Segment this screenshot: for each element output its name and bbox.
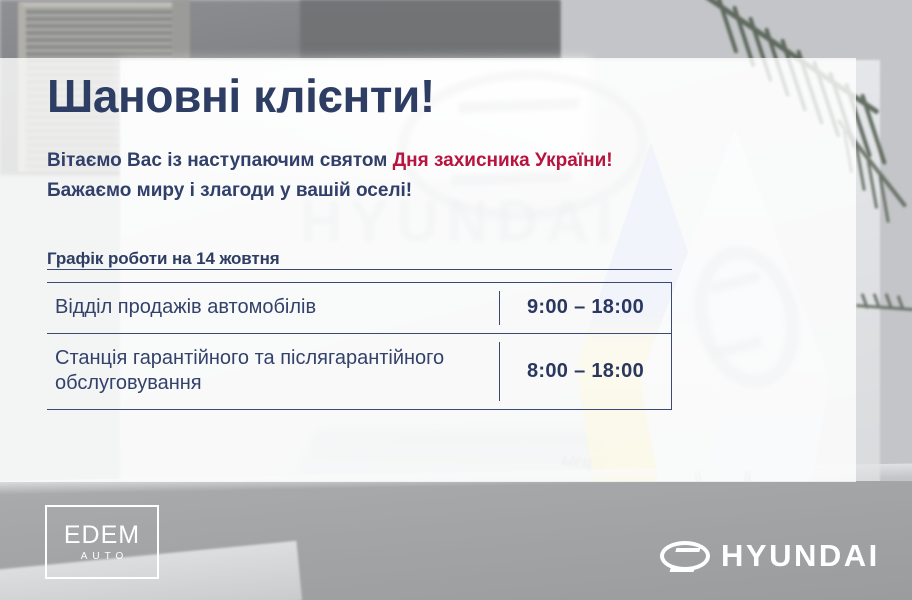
schedule-title: Графік роботи на 14 жовтня [47, 249, 747, 269]
edem-logo-main: EDEM [64, 523, 140, 548]
hyundai-wordmark: HYUNDAI [721, 540, 880, 571]
poster-canvas: HYUNDAI [0, 0, 912, 600]
greeting-block: Вітаємо Вас із наступаючим святом Дня за… [47, 146, 747, 205]
table-cell-department: Відділ продажів автомобілів [47, 283, 499, 333]
schedule-top-rule [47, 269, 672, 270]
schedule-table: Відділ продажів автомобілів 9:00 – 18:00… [47, 282, 672, 410]
edem-logo-sub: AUTO [76, 552, 129, 562]
hyundai-h-oval-icon [660, 541, 710, 571]
greeting-line-2: Бажаємо миру і злагоди у вашій оселі! [47, 176, 747, 205]
hyundai-logo: HYUNDAI [660, 540, 880, 571]
table-row: Станція гарантійного та післягарантійног… [47, 334, 671, 409]
greeting-line-1: Вітаємо Вас із наступаючим святом Дня за… [47, 146, 747, 175]
page-title: Шановні клієнти! [47, 72, 747, 120]
edem-auto-logo: EDEM AUTO [45, 505, 159, 579]
table-cell-hours: 8:00 – 18:00 [500, 334, 671, 409]
table-row: Відділ продажів автомобілів 9:00 – 18:00 [47, 283, 671, 334]
greeting-line-1-prefix: Вітаємо Вас із наступаючим святом [47, 150, 393, 171]
table-cell-hours: 9:00 – 18:00 [500, 283, 671, 333]
table-cell-department: Станція гарантійного та післягарантійног… [47, 334, 499, 409]
palm-frond-small-icon [856, 290, 912, 330]
content-area: Шановні клієнти! Вітаємо Вас із наступаю… [47, 72, 747, 410]
greeting-line-1-accent: Дня захисника України! [393, 150, 613, 171]
